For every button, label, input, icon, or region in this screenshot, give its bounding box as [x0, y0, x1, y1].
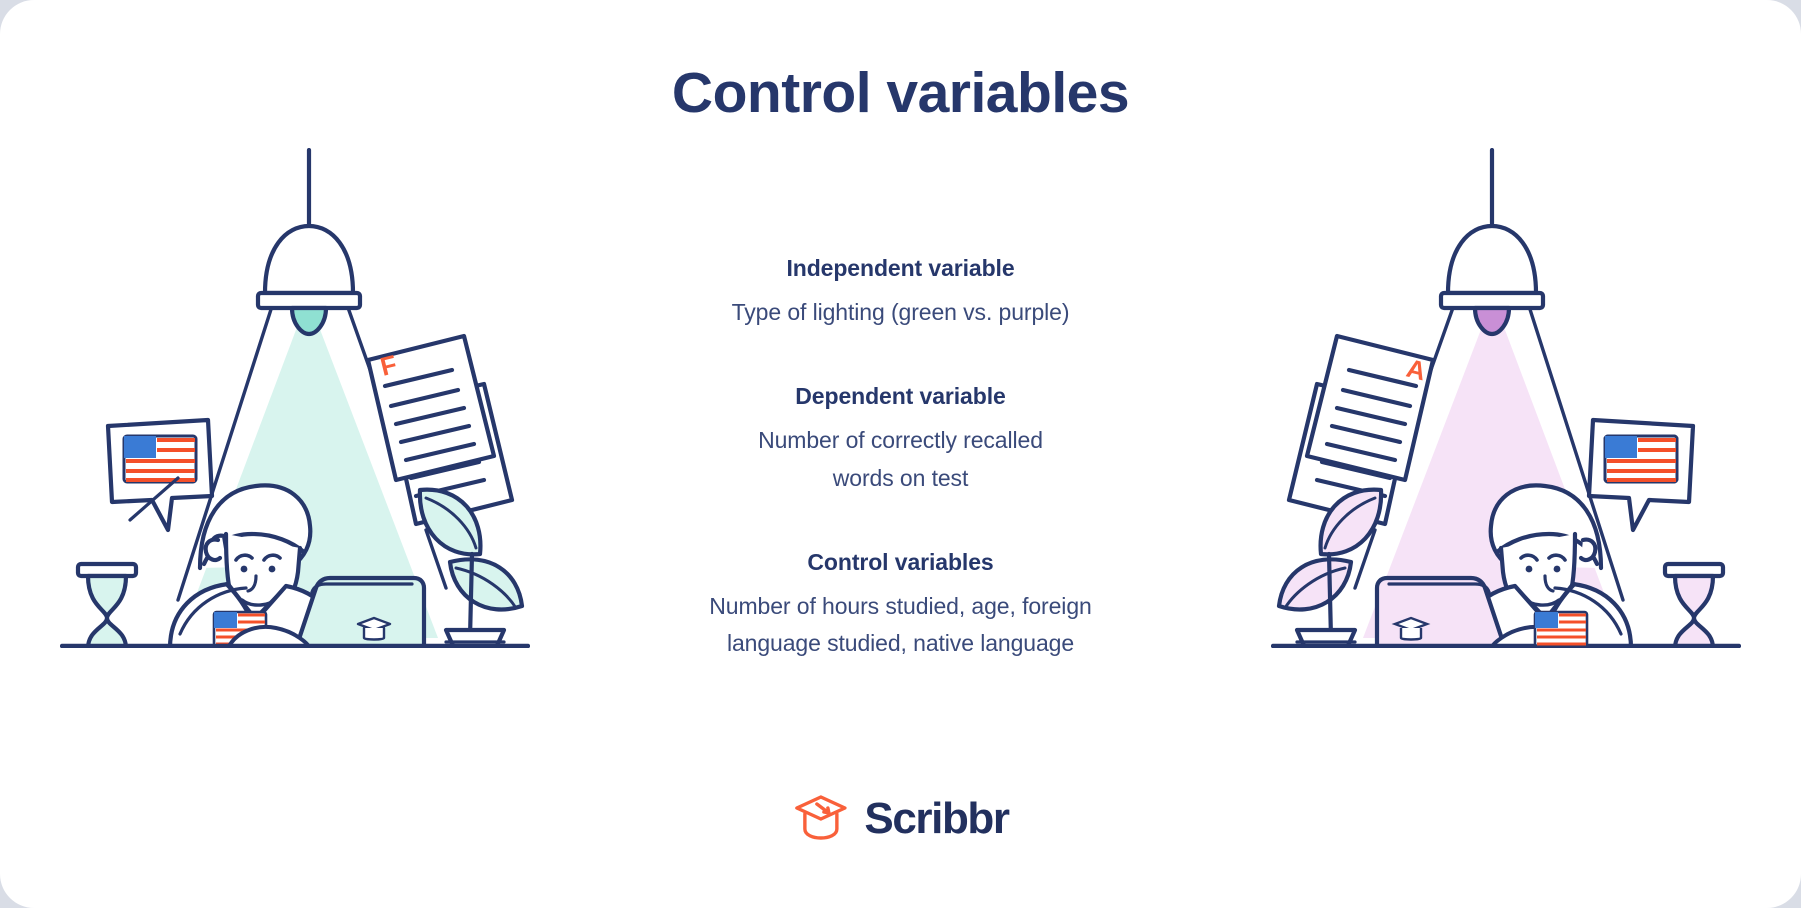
illustration-left-green-lighting: F — [60, 148, 530, 653]
potted-plant-right — [1279, 490, 1381, 648]
dependent-variable-heading: Dependent variable — [641, 383, 1161, 410]
pendant-lamp-left — [258, 150, 360, 334]
independent-variable-description: Type of lighting (green vs. purple) — [641, 294, 1161, 331]
infographic-card: Control variables — [0, 0, 1801, 908]
dependent-variable-description: Number of correctly recalled words on te… — [641, 422, 1161, 497]
speech-bubble-flag-left — [108, 420, 212, 530]
independent-variable-block: Independent variable Type of lighting (g… — [641, 255, 1161, 331]
scribbr-logo[interactable]: Scribbr — [792, 791, 1008, 846]
pendant-lamp-right — [1441, 150, 1543, 334]
dependent-variable-description-line2: words on test — [641, 460, 1161, 497]
page-title: Control variables — [0, 62, 1801, 125]
potted-plant-left — [420, 490, 522, 648]
illustration-right-purple-lighting: A — [1271, 148, 1741, 653]
variables-text-column: Independent variable Type of lighting (g… — [641, 255, 1161, 662]
control-variables-description: Number of hours studied, age, foreign la… — [641, 588, 1161, 663]
laptop-left — [296, 578, 424, 648]
control-variables-block: Control variables Number of hours studie… — [641, 549, 1161, 663]
graduation-cap-icon — [792, 791, 848, 846]
independent-variable-heading: Independent variable — [641, 255, 1161, 282]
laptop-logo-icon-right — [1395, 618, 1427, 640]
dependent-variable-block: Dependent variable Number of correctly r… — [641, 383, 1161, 497]
control-variables-description-line2: language studied, native language — [641, 625, 1161, 662]
control-variables-description-line1: Number of hours studied, age, foreign — [641, 588, 1161, 625]
hourglass-left — [78, 564, 136, 648]
dependent-variable-description-line1: Number of correctly recalled — [641, 422, 1161, 459]
control-variables-heading: Control variables — [641, 549, 1161, 576]
flag-patch-right — [1535, 612, 1587, 646]
laptop-right — [1377, 578, 1505, 648]
hourglass-right — [1665, 564, 1723, 648]
scribbr-wordmark: Scribbr — [864, 794, 1008, 844]
